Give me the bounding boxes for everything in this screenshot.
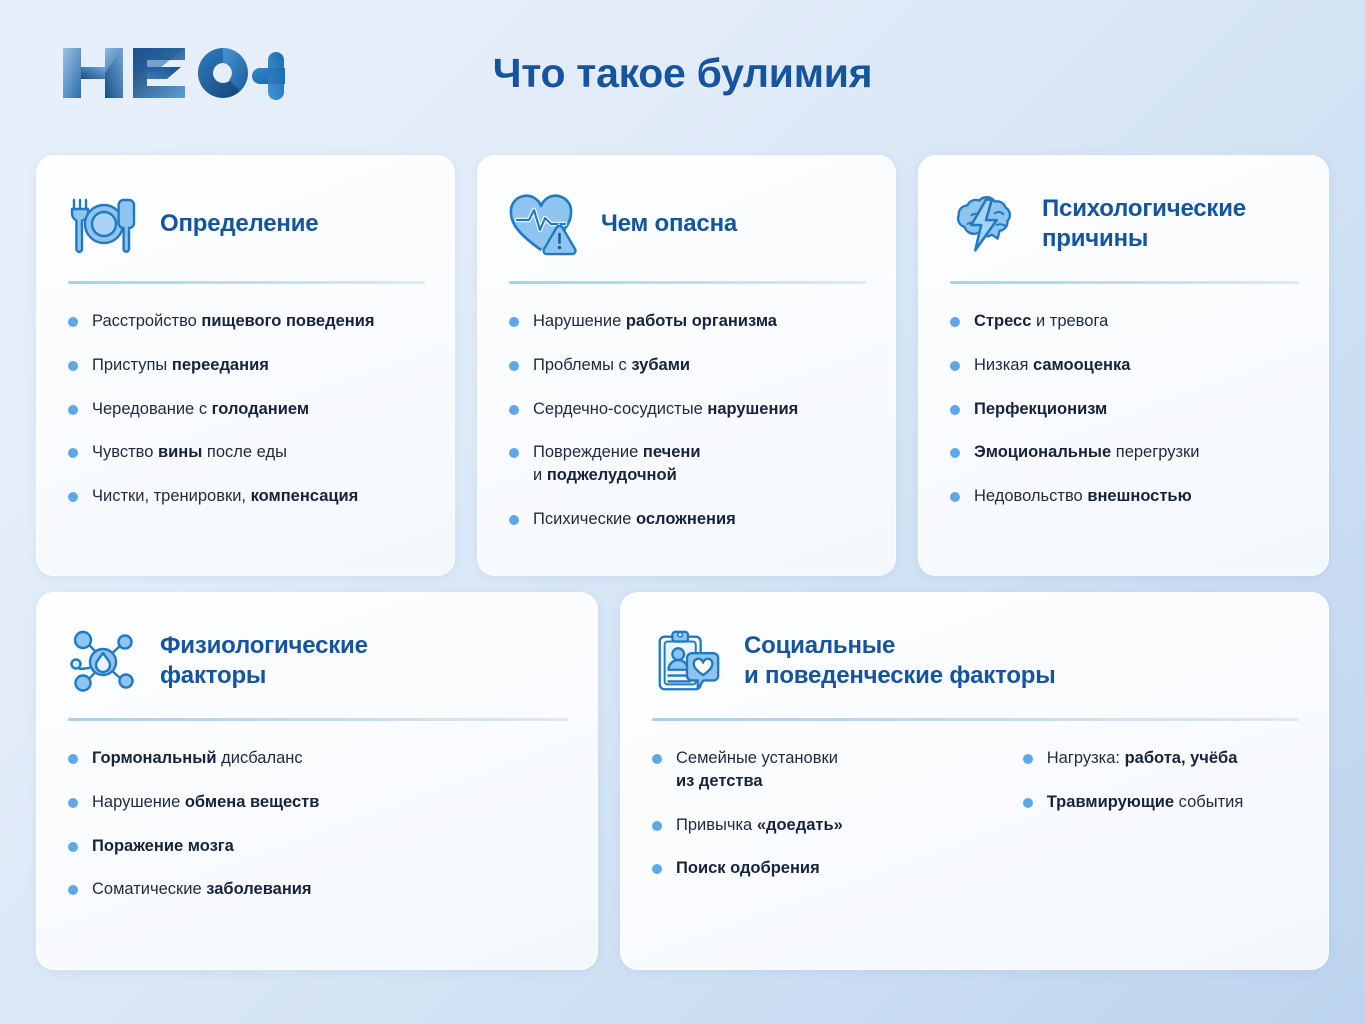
card-header: Физиологическиефакторы	[66, 618, 570, 704]
card-title: Определение	[160, 209, 318, 239]
page-header: Что такое булимия	[0, 0, 1365, 145]
card-divider	[68, 718, 568, 721]
list-item: Расстройство пищевого поведения	[66, 310, 427, 333]
list-item: Эмоциональные перегрузки	[948, 441, 1301, 464]
list-item: Недовольство внешностью	[948, 485, 1301, 508]
heart-pulse-warning-icon	[507, 187, 581, 261]
card-header: Чем опасна	[507, 181, 868, 267]
card-divider	[68, 281, 425, 284]
bullet-list-left: Семейные установкииз детстваПривычка «до…	[650, 747, 991, 880]
bullet-list: Гормональный дисбалансНарушение обмена в…	[66, 747, 570, 901]
bullet-list: Нарушение работы организмаПроблемы с зуб…	[507, 310, 868, 531]
list-item: Поражение мозга	[66, 835, 570, 858]
list-item: Низкая самооценка	[948, 354, 1301, 377]
cards-row-top: Определение Расстройство пищевого поведе…	[36, 155, 1329, 576]
list-item: Чистки, тренировки, компенсация	[66, 485, 427, 508]
list-item: Стресс и тревога	[948, 310, 1301, 333]
card-danger: Чем опасна Нарушение работы организмаПро…	[477, 155, 896, 576]
card-definition: Определение Расстройство пищевого поведе…	[36, 155, 455, 576]
card-divider	[509, 281, 866, 284]
bullet-list-right: Нагрузка: работа, учёбаТравмирующие собы…	[1021, 747, 1301, 880]
card-physiological-factors: Физиологическиефакторы Гормональный дисб…	[36, 592, 598, 970]
card-header: Социальныеи поведенческие факторы	[650, 618, 1301, 704]
card-title: Физиологическиефакторы	[160, 631, 368, 691]
card-title: Социальныеи поведенческие факторы	[744, 631, 1056, 691]
bullet-list: Стресс и тревогаНизкая самооценкаПерфекц…	[948, 310, 1301, 508]
card-divider	[652, 718, 1299, 721]
list-item: Психические осложнения	[507, 508, 868, 531]
list-item: Семейные установкииз детства	[650, 747, 991, 793]
list-item: Привычка «доедать»	[650, 814, 991, 837]
cards-row-bottom: Физиологическиефакторы Гормональный дисб…	[36, 592, 1329, 970]
list-item: Сердечно-сосудистые нарушения	[507, 398, 868, 421]
card-divider	[950, 281, 1299, 284]
brain-lightning-icon	[948, 187, 1022, 261]
list-item: Перфекционизм	[948, 398, 1301, 421]
list-item: Нагрузка: работа, учёба	[1021, 747, 1301, 770]
list-item: Повреждение печении поджелудочной	[507, 441, 868, 487]
bullet-list: Расстройство пищевого поведенияПриступы …	[66, 310, 427, 508]
list-item: Чередование с голоданием	[66, 398, 427, 421]
card-header: Определение	[66, 181, 427, 267]
two-column-lists: Семейные установкииз детстваПривычка «до…	[650, 747, 1301, 880]
card-header: Психологическиепричины	[948, 181, 1301, 267]
list-item: Приступы переедания	[66, 354, 427, 377]
clipboard-person-heart-icon	[650, 624, 724, 698]
list-item: Нарушение работы организма	[507, 310, 868, 333]
card-title: Чем опасна	[601, 209, 737, 239]
list-item: Чувство вины после еды	[66, 441, 427, 464]
card-social-behavioral-factors: Социальныеи поведенческие факторы Семейн…	[620, 592, 1329, 970]
plate-fork-knife-icon	[66, 187, 140, 261]
list-item: Гормональный дисбаланс	[66, 747, 570, 770]
list-item: Нарушение обмена веществ	[66, 791, 570, 814]
list-item: Поиск одобрения	[650, 857, 991, 880]
molecule-hormone-icon	[66, 624, 140, 698]
list-item: Травмирующие события	[1021, 791, 1301, 814]
card-title: Психологическиепричины	[1042, 194, 1246, 254]
list-item: Проблемы с зубами	[507, 354, 868, 377]
page-title: Что такое булимия	[0, 50, 1365, 97]
list-item: Соматические заболевания	[66, 878, 570, 901]
card-psychological-causes: Психологическиепричины Стресс и тревогаН…	[918, 155, 1329, 576]
